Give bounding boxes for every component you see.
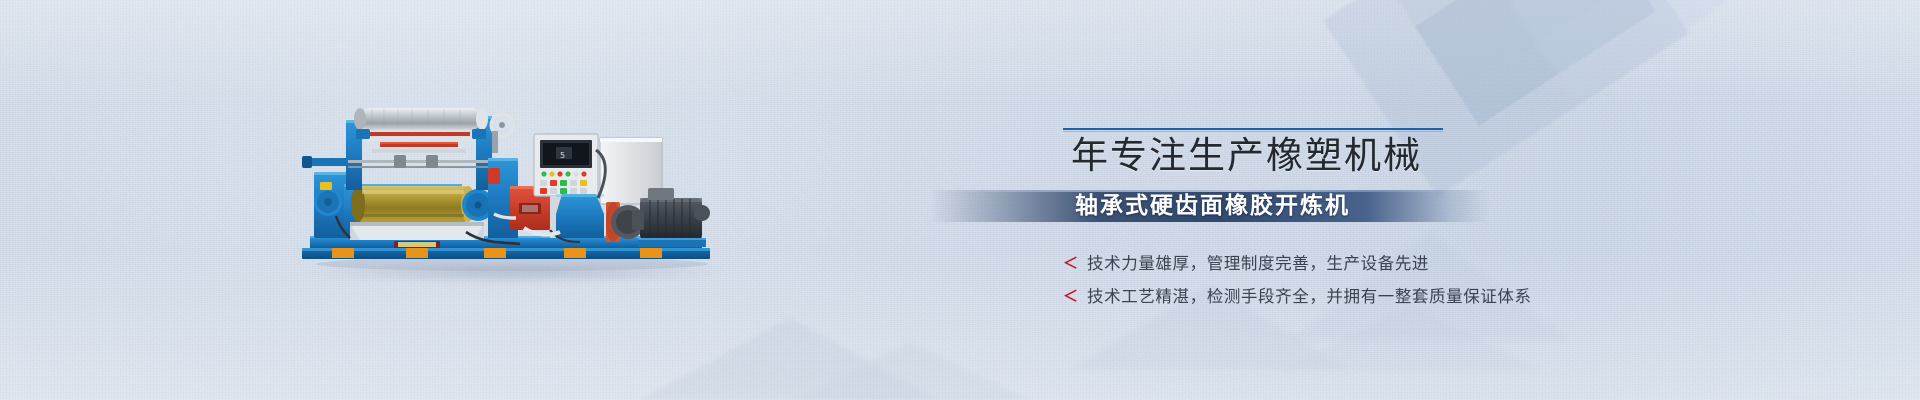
feature-bullet-1: ＜ 技术力量雄厚，管理制度完善，生产设备先进 xyxy=(1063,250,1532,283)
chevron-left-icon: ＜ xyxy=(1063,252,1078,273)
page-title: 年专注生产橡塑机械 xyxy=(1071,134,1422,178)
feature-bullet-2: ＜ 技术工艺精湛，检测手段齐全，并拥有一整套质量保证体系 xyxy=(1063,283,1532,316)
title-rule-gold xyxy=(1063,131,1443,132)
product-subtitle: 轴承式硬齿面橡胶开炼机 xyxy=(1075,193,1350,220)
hero-banner: 5 xyxy=(0,0,1920,400)
feature-bullet-2-text: 技术工艺精湛，检测手段齐全，并拥有一整套质量保证体系 xyxy=(1087,283,1532,307)
title-rule-blue xyxy=(1063,128,1443,130)
feature-bullet-1-text: 技术力量雄厚，管理制度完善，生产设备先进 xyxy=(1087,250,1429,274)
chevron-left-icon: ＜ xyxy=(1063,285,1078,306)
feature-bullet-list: ＜ 技术力量雄厚，管理制度完善，生产设备先进 ＜ 技术工艺精湛，检测手段齐全，并… xyxy=(1063,250,1532,316)
subtitle-bar-highlight xyxy=(930,190,1490,192)
banner-text-block: 年专注生产橡塑机械 轴承式硬齿面橡胶开炼机 ＜ 技术力量雄厚，管理制度完善，生产… xyxy=(0,0,1920,400)
